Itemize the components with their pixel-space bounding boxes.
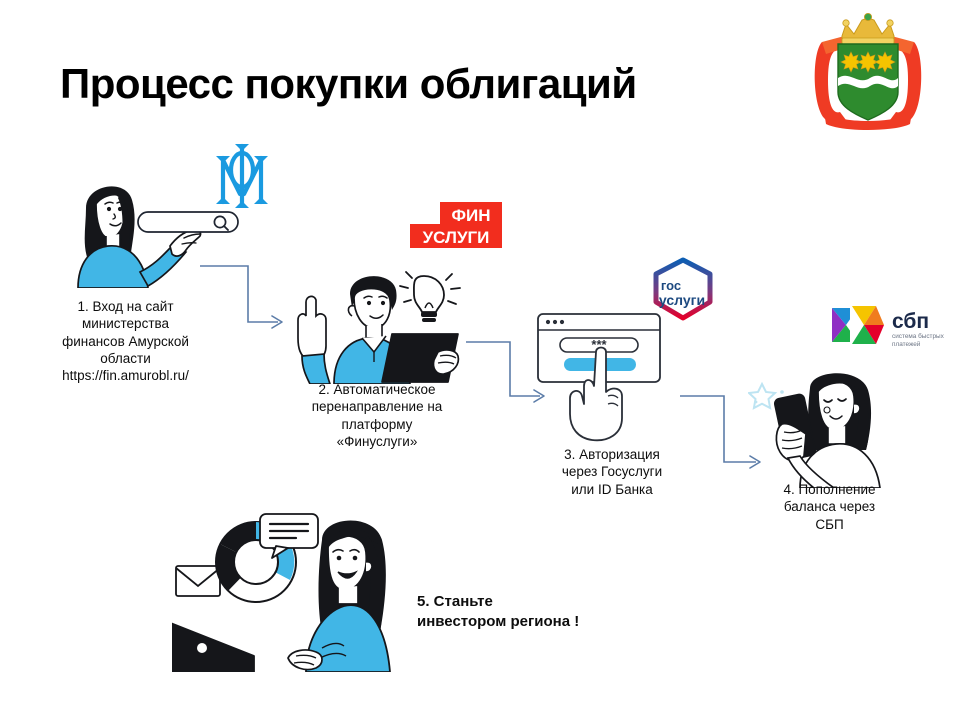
- coat-of-arms-amur-oblast: [806, 8, 930, 132]
- slide-canvas: Процесс покупки облигаций: [0, 0, 960, 720]
- illustration-woman-with-smartphone: [748, 368, 912, 488]
- sbp-subtitle-line2: платежей: [892, 340, 921, 348]
- sbp-subtitle-line1: система быстрых: [892, 332, 945, 340]
- sbp-title: сбп: [892, 310, 929, 333]
- finuslugi-logo: ФИН УСЛУГИ: [408, 200, 504, 250]
- laptop-icon: [172, 622, 254, 672]
- envelope-icon: [176, 566, 220, 596]
- search-bar-icon: [138, 212, 238, 232]
- finuslugi-line1: ФИН: [451, 206, 490, 225]
- step-3-caption: 3. Авторизация через Госуслуги или ID Ба…: [522, 446, 702, 498]
- ministry-of-finance-monogram-icon: [210, 134, 274, 214]
- crown-icon: [842, 13, 894, 44]
- step-4-caption: 4. Пополнение баланса через СБП: [742, 481, 917, 533]
- window-dots-icon: [546, 320, 564, 324]
- illustration-man-with-laptop-and-lightbulb: [288, 258, 472, 384]
- gosuslugi-line1: гос: [661, 278, 681, 293]
- illustration-woman-at-laptop-with-chart: [172, 492, 392, 672]
- sbp-mark-icon: [832, 304, 884, 346]
- lightbulb-icon: [400, 272, 460, 322]
- finuslugi-line2: УСЛУГИ: [423, 228, 490, 247]
- shield-icon: [838, 44, 898, 120]
- sbp-logo: сбп система быстрых платежей: [824, 296, 946, 354]
- illustration-login-window-with-hand: ***: [526, 300, 690, 442]
- step-5-caption: 5. Станьте инвестором региона !: [417, 592, 647, 633]
- page-title: Процесс покупки облигаций: [60, 60, 637, 108]
- step-2-caption: 2. Автоматическое перенаправление на пла…: [282, 381, 472, 450]
